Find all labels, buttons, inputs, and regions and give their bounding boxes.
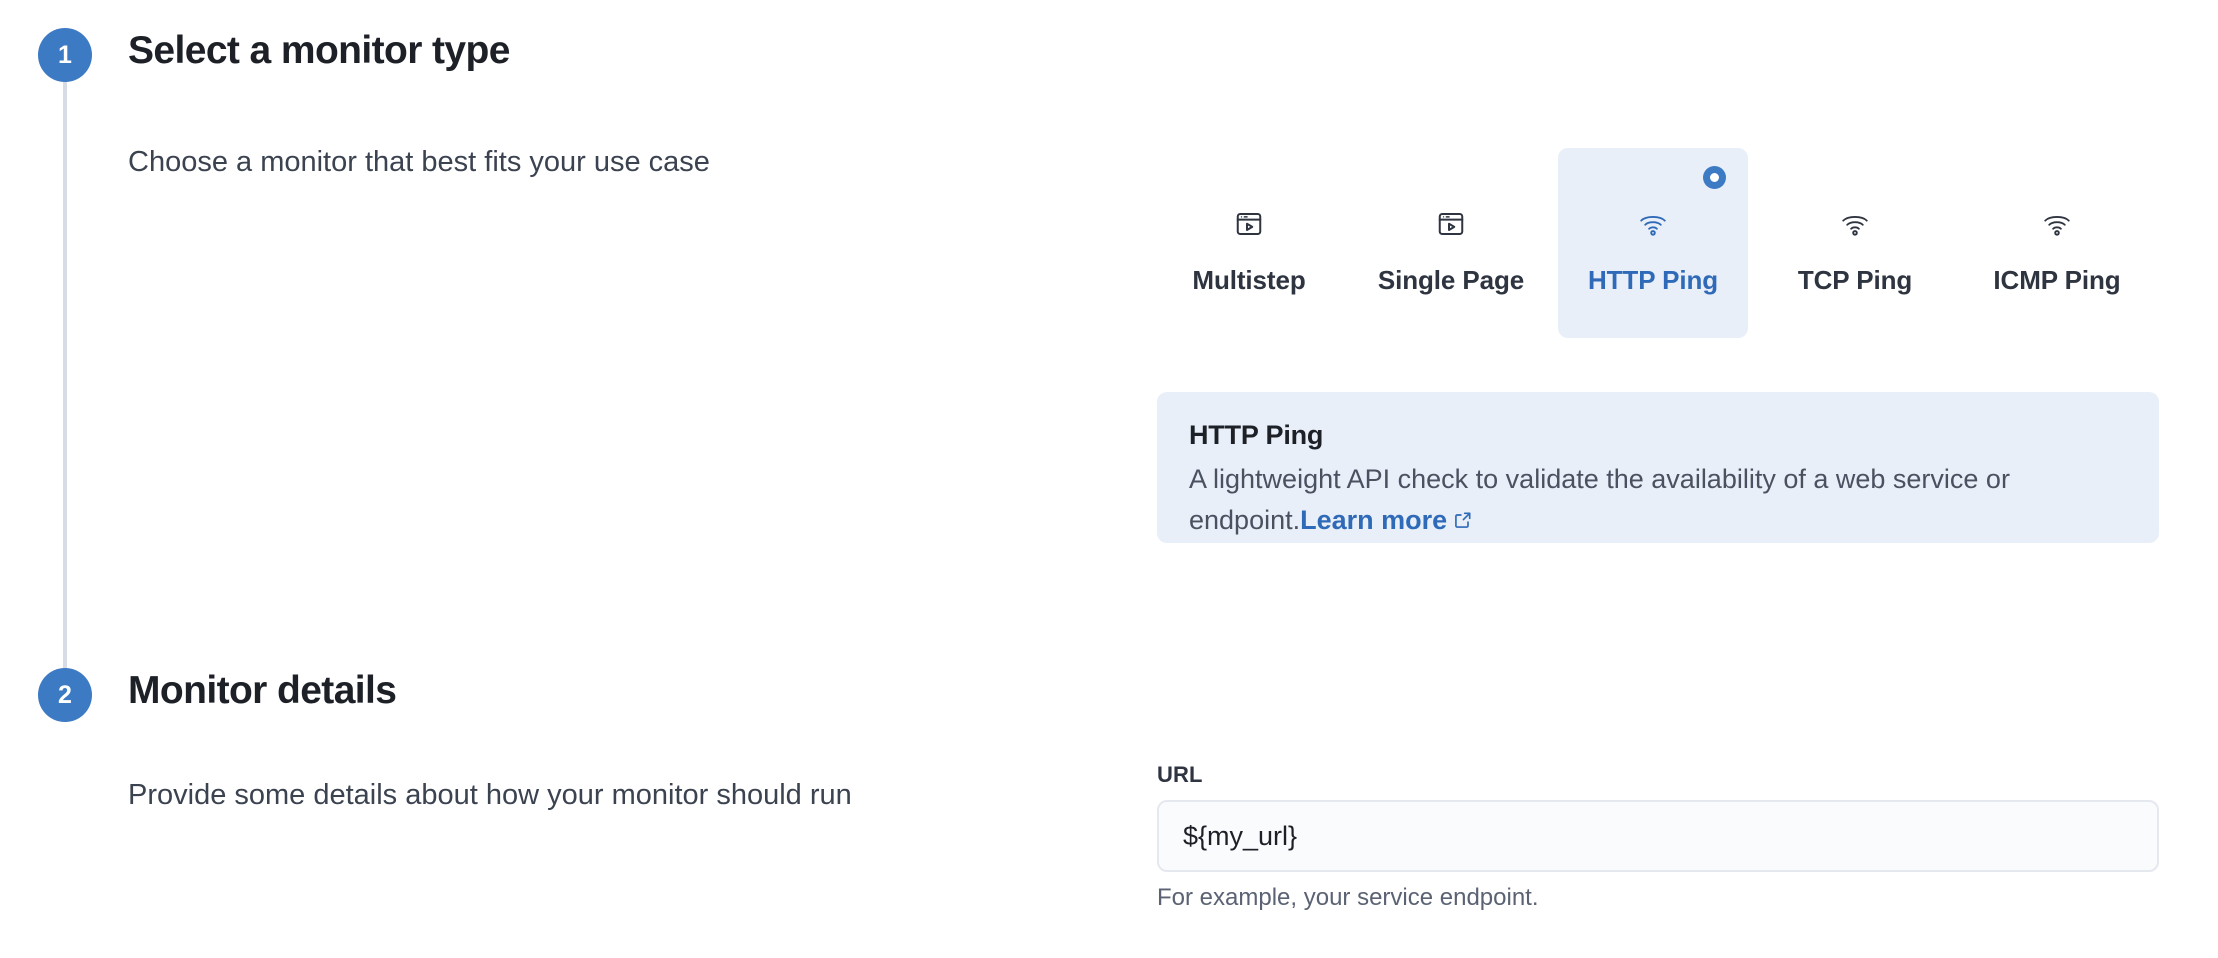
monitor-type-info-panel: HTTP Ping A lightweight API check to val… bbox=[1157, 392, 2159, 543]
monitor-type-label: TCP Ping bbox=[1798, 265, 1912, 296]
step-2-number: 2 bbox=[58, 681, 72, 710]
step-2-subtitle: Provide some details about how your moni… bbox=[128, 779, 852, 812]
wifi-signal-icon bbox=[2040, 201, 2074, 247]
url-input[interactable] bbox=[1157, 800, 2159, 872]
learn-more-label: Learn more bbox=[1300, 505, 1447, 535]
monitor-type-selector: Multistep Single Page bbox=[1154, 148, 2164, 338]
stepper-connector-line bbox=[63, 68, 67, 688]
info-panel-title: HTTP Ping bbox=[1189, 420, 2127, 451]
learn-more-link[interactable]: Learn more bbox=[1300, 505, 1473, 535]
wifi-signal-icon bbox=[1636, 201, 1670, 247]
url-field-help-text: For example, your service endpoint. bbox=[1157, 884, 2159, 912]
step-1-subtitle: Choose a monitor that best fits your use… bbox=[128, 146, 710, 179]
radio-selected-icon[interactable] bbox=[1703, 166, 1726, 189]
step-1-badge: 1 bbox=[38, 28, 92, 82]
step-2-badge: 2 bbox=[38, 668, 92, 722]
monitor-type-option-tcp-ping[interactable]: TCP Ping bbox=[1760, 148, 1950, 338]
monitor-type-label: ICMP Ping bbox=[1993, 265, 2120, 296]
create-monitor-wizard: 1 Select a monitor type Choose a monitor… bbox=[0, 0, 2218, 958]
browser-window-play-icon bbox=[1436, 201, 1466, 247]
url-field-label: URL bbox=[1157, 762, 2159, 788]
browser-window-play-icon bbox=[1234, 201, 1264, 247]
step-1-title: Select a monitor type bbox=[128, 29, 510, 73]
wifi-signal-icon bbox=[1838, 201, 1872, 247]
monitor-type-label: HTTP Ping bbox=[1588, 265, 1718, 296]
step-1-number: 1 bbox=[58, 41, 72, 70]
monitor-type-option-single-page[interactable]: Single Page bbox=[1356, 148, 1546, 338]
monitor-type-option-http-ping[interactable]: HTTP Ping bbox=[1558, 148, 1748, 338]
monitor-type-label: Single Page bbox=[1378, 265, 1524, 296]
external-link-icon bbox=[1453, 501, 1473, 542]
step-2-title: Monitor details bbox=[128, 669, 396, 713]
url-field-block: URL For example, your service endpoint. bbox=[1157, 762, 2159, 912]
monitor-type-option-icmp-ping[interactable]: ICMP Ping bbox=[1962, 148, 2152, 338]
monitor-type-label: Multistep bbox=[1192, 265, 1305, 296]
monitor-type-option-multistep[interactable]: Multistep bbox=[1154, 148, 1344, 338]
info-panel-description: A lightweight API check to validate the … bbox=[1189, 459, 2127, 542]
